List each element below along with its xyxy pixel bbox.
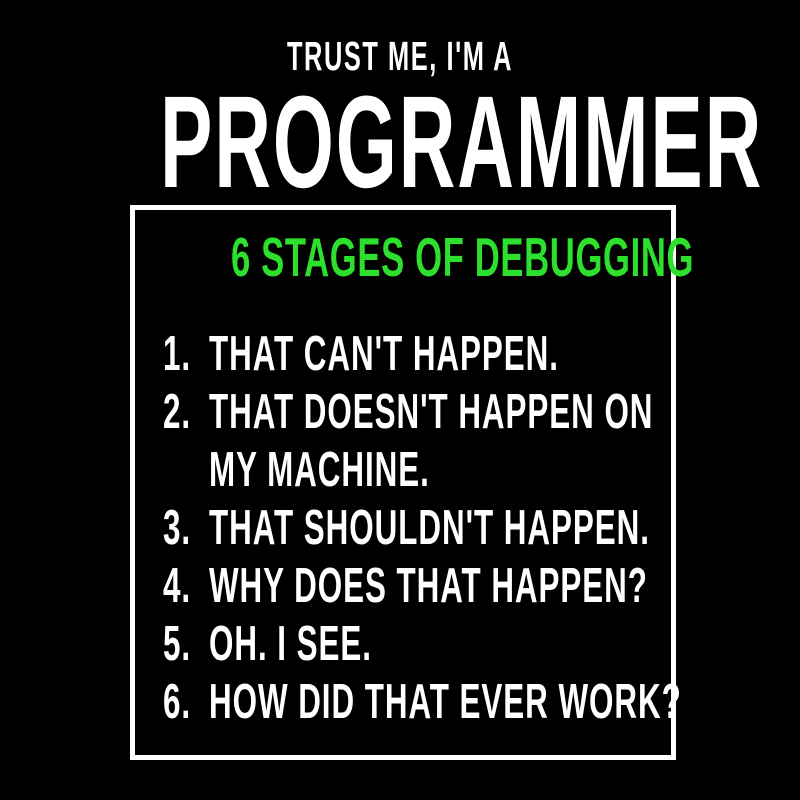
- headline-text: PROGRAMMER: [160, 76, 640, 207]
- list-item: 4. WHY DOES THAT HAPPEN?: [163, 557, 663, 615]
- stage-text: WHY DOES THAT HAPPEN?: [209, 557, 695, 615]
- stage-text-continuation: MY MACHINE.: [209, 441, 695, 499]
- poster-canvas: TRUST ME, I'M A PROGRAMMER 6 STAGES OF D…: [0, 0, 800, 800]
- list-item: 6. HOW DID THAT EVER WORK?: [163, 673, 663, 731]
- list-item: 5. OH. I SEE.: [163, 615, 663, 673]
- stage-text: THAT CAN'T HAPPEN.: [209, 325, 695, 383]
- stage-list: 1. THAT CAN'T HAPPEN. 2. THAT DOESN'T HA…: [163, 325, 663, 731]
- list-item: 3. THAT SHOULDN'T HAPPEN.: [163, 499, 663, 557]
- list-item: 1. THAT CAN'T HAPPEN.: [163, 325, 663, 383]
- stage-text: THAT DOESN'T HAPPEN ON: [209, 383, 695, 441]
- stage-text: OH. I SEE.: [209, 615, 695, 673]
- stage-text: THAT SHOULDN'T HAPPEN.: [209, 499, 695, 557]
- list-item: 2. THAT DOESN'T HAPPEN ON MY MACHINE.: [163, 383, 663, 499]
- stage-text: HOW DID THAT EVER WORK?: [209, 673, 695, 731]
- panel-subtitle: 6 STAGES OF DEBUGGING: [231, 230, 575, 285]
